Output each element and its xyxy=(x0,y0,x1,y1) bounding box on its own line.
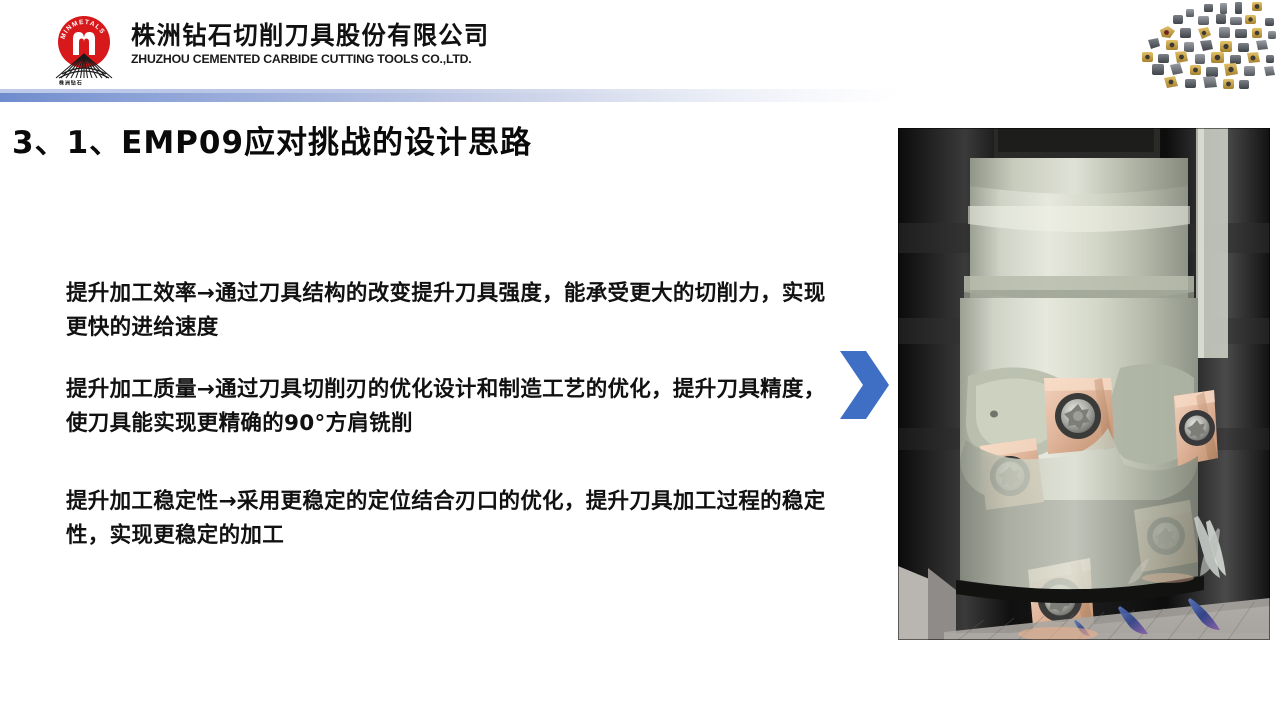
bullet-paragraph-stability: 提升加工稳定性→采用更稳定的定位结合刃口的优化，提升刀具加工过程的稳定性，实现更… xyxy=(66,485,826,553)
milling-cutter-photo xyxy=(898,128,1270,640)
company-name-block: 株洲钻石切削刀具股份有限公司 ZHUZHOU CEMENTED CARBIDE … xyxy=(131,22,551,66)
svg-text:株洲钻石: 株洲钻石 xyxy=(59,79,83,86)
company-name-cn: 株洲钻石切削刀具股份有限公司 xyxy=(131,22,538,49)
slide-header: MINMETALS xyxy=(0,0,1280,88)
chevron-right-icon xyxy=(836,349,892,421)
slide-root: MINMETALS xyxy=(0,0,1280,720)
body-text-area: 提升加工效率→通过刀具结构的改变提升刀具强度，能承受更大的切削力，实现更快的进给… xyxy=(66,277,826,553)
page-title: 3、1、EMP09应对挑战的设计思路 xyxy=(12,117,532,162)
bullet-paragraph-efficiency: 提升加工效率→通过刀具结构的改变提升刀具强度，能承受更大的切削力，实现更快的进给… xyxy=(66,277,826,345)
bullet-paragraph-quality: 提升加工质量→通过刀具切削刃的优化设计和制造工艺的优化，提升刀具精度，使刀具能实… xyxy=(66,373,826,441)
company-name-en: ZHUZHOU CEMENTED CARBIDE CUTTING TOOLS C… xyxy=(131,52,547,66)
minmetals-circle-logo-icon: MINMETALS xyxy=(48,12,120,86)
header-divider-bar xyxy=(0,89,900,102)
carbide-inserts-photo-icon xyxy=(1080,0,1280,98)
